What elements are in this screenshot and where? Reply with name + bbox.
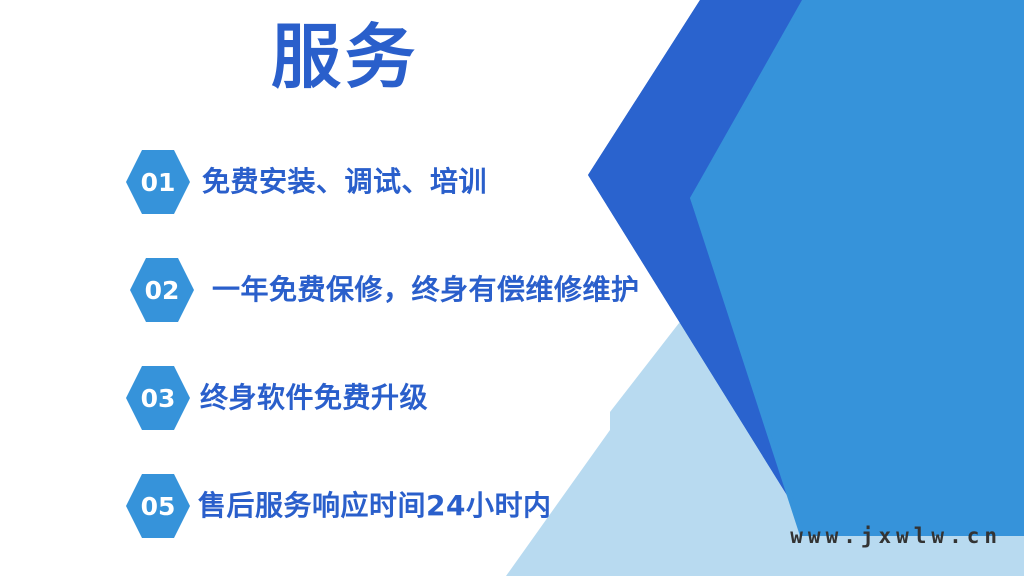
list-item[interactable]: 01 免费安装、调试、培训 xyxy=(0,146,700,218)
service-item-label: 终身软件免费升级 xyxy=(200,383,428,414)
list-item[interactable]: 05 售后服务响应时间24小时内 xyxy=(0,470,700,542)
service-number-badge: 05 xyxy=(126,474,190,538)
page-title: 服务 xyxy=(0,22,690,92)
badge-number-label: 02 xyxy=(145,278,180,303)
service-item-label: 一年免费保修，终身有偿维修维护 xyxy=(212,275,640,306)
watermark-url: www.jxwlw.cn xyxy=(790,524,1002,548)
badge-number-label: 05 xyxy=(141,494,176,519)
service-item-label: 售后服务响应时间24小时内 xyxy=(198,491,551,522)
list-item[interactable]: 02 一年免费保修，终身有偿维修维护 xyxy=(0,254,700,326)
list-item[interactable]: 03 终身软件免费升级 xyxy=(0,362,700,434)
medium-blue-chevron-body xyxy=(690,0,1024,536)
service-number-badge: 03 xyxy=(126,366,190,430)
badge-number-label: 01 xyxy=(141,170,176,195)
service-item-label: 免费安装、调试、培训 xyxy=(202,167,487,198)
medium-blue-chevron xyxy=(690,0,1024,536)
service-number-badge: 02 xyxy=(130,258,194,322)
service-list: 01 免费安装、调试、培训 02 一年免费保修，终身有偿维修维护 03 终身软件… xyxy=(0,146,700,576)
service-number-badge: 01 xyxy=(126,150,190,214)
badge-number-label: 03 xyxy=(141,386,176,411)
slide-canvas: 服务 01 免费安装、调试、培训 02 一年免费保修，终身有偿维修维护 03 终… xyxy=(0,0,1024,576)
